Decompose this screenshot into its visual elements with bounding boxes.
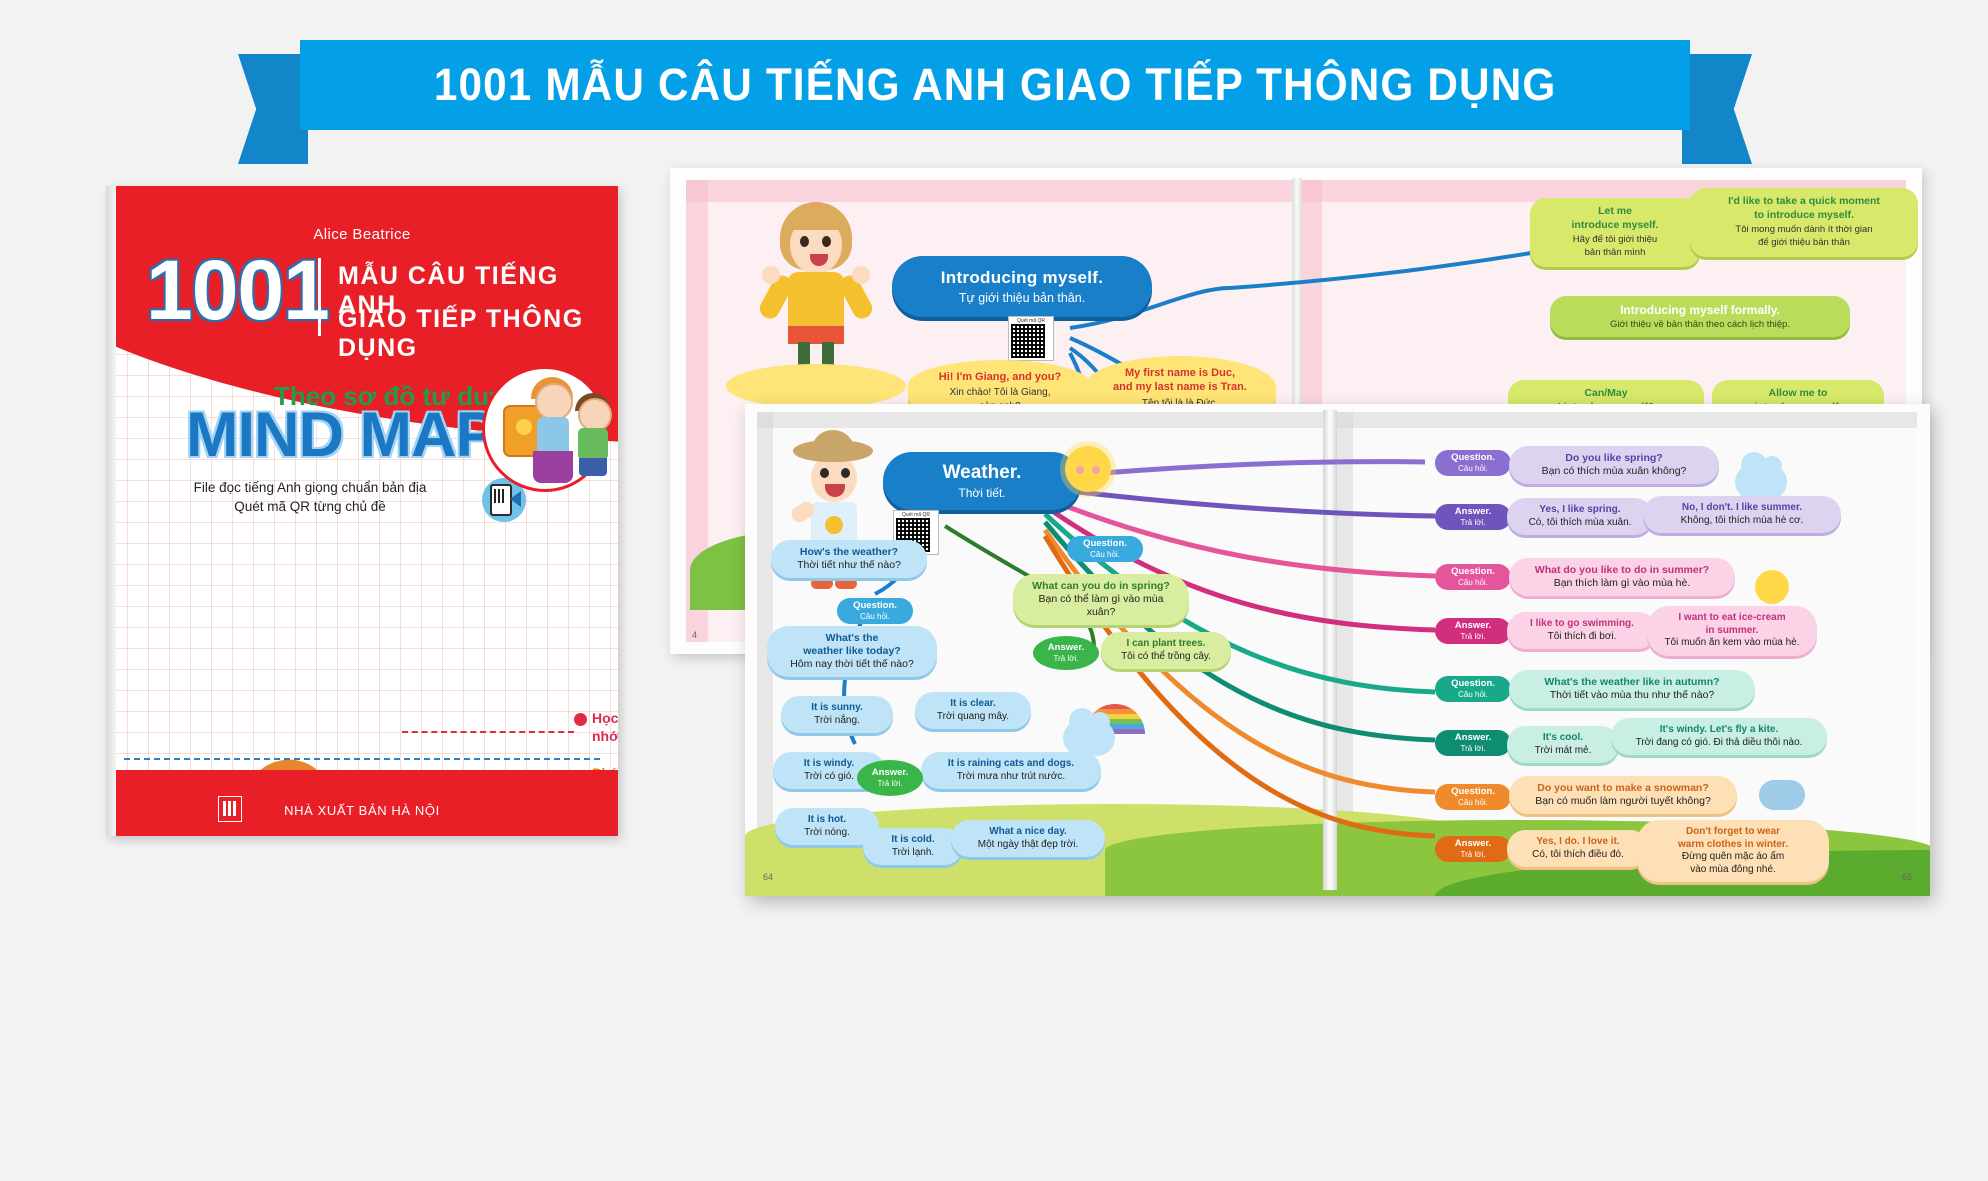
tag-q-winter-vi: Câu hỏi. — [1444, 798, 1502, 807]
weather-winter-a1-en: Yes, I do. I love it. — [1517, 836, 1639, 849]
back-girl-illustration — [762, 202, 872, 372]
weather-summer-a1-vi: Tôi thích đi bơi. — [1517, 631, 1647, 644]
weather-autumn-question[interactable]: What's the weather like in autumn? Thời … — [1509, 670, 1755, 708]
snow-cloud-icon — [1759, 780, 1805, 810]
back-yellow-2-en: My first name is Duc, and my last name i… — [1100, 366, 1260, 395]
weather-summer-a2[interactable]: I want to eat ice-cream in summer. Tôi m… — [1647, 606, 1817, 656]
weather-spring-question[interactable]: Do you like spring? Bạn có thích mùa xuâ… — [1509, 446, 1719, 484]
tag-a-autumn-vi: Trả lời. — [1444, 744, 1502, 753]
tag-question-1-vi: Câu hỏi. — [846, 612, 904, 621]
weather-spring-a1-en: Yes, I like spring. — [1517, 504, 1643, 517]
weather-a7[interactable]: What a nice day. Một ngày thật đẹp trời. — [951, 820, 1105, 857]
weather-center-node[interactable]: Weather. Thời tiết. — [883, 452, 1081, 510]
weather-a2-vi: Trời quang mây. — [925, 711, 1021, 724]
weather-winter-question[interactable]: Do you want to make a snowman? Bạn có mu… — [1509, 776, 1737, 814]
tag-q-summer-en: Question. — [1444, 567, 1502, 578]
back-center-node[interactable]: Introducing myself. Tự giới thiệu bản th… — [892, 256, 1152, 317]
cloud-face-icon-left — [1063, 720, 1115, 756]
weather-a4-vi: Trời mưa như trút nước. — [931, 771, 1091, 784]
weather-a2-en: It is clear. — [925, 698, 1021, 711]
back-girl-torso — [788, 272, 844, 330]
tag-answer-spring2: Answer. Trả lời. — [1435, 504, 1511, 530]
weather-winter-a2[interactable]: Don't forget to wear warm clothes in win… — [1637, 820, 1829, 882]
tag-answer-1-vi: Trả lời. — [863, 779, 917, 788]
tag-q-winter-en: Question. — [1444, 787, 1502, 798]
weather-autumn-a2-vi: Trời đang có gió. Đi thả diều thôi nào. — [1621, 737, 1817, 750]
tag-answer-summer: Answer. Trả lời. — [1435, 618, 1511, 644]
weather-autumn-a2[interactable]: It's windy. Let's fly a kite. Trời đang … — [1611, 718, 1827, 755]
weather-spring-q-vi: Bạn có thể làm gì vào mùa xuân? — [1023, 593, 1179, 619]
weather-autumn-a1[interactable]: It's cool. Trời mát mẻ. — [1507, 726, 1619, 763]
weather-a4-en: It is raining cats and dogs. — [931, 758, 1091, 771]
tag-a-autumn-en: Answer. — [1444, 733, 1502, 744]
cover-subtitle-line1: File đọc tiếng Anh giọng chuẩn bản địa — [160, 480, 460, 495]
weather-autumn-a1-vi: Trời mát mẻ. — [1517, 745, 1609, 758]
cloud-face-icon-1 — [1735, 464, 1787, 500]
weather-spring-a1-vi: Có, tôi thích mùa xuân. — [1517, 517, 1643, 530]
bullet-connector-1 — [402, 731, 574, 733]
tag-answer-spring: Answer. Trả lời. — [1033, 636, 1099, 670]
ribbon-tail-right — [1682, 54, 1752, 164]
weather-a6-vi: Trời lạnh. — [873, 847, 953, 860]
weather-boy-shoe-right — [835, 578, 857, 589]
weather-winter-question-en: Do you want to make a snowman? — [1519, 782, 1727, 795]
bullet-dot-1 — [574, 713, 587, 726]
weather-winter-a1[interactable]: Yes, I do. I love it. Có, tôi thích điều… — [1507, 830, 1649, 867]
back-qr-code[interactable]: Quét mã QR — [1008, 316, 1054, 361]
tag-a-spring2-en: Answer. — [1444, 507, 1502, 518]
weather-a7-en: What a nice day. — [961, 826, 1095, 839]
weather-q2-en: What's the weather like today? — [777, 632, 927, 658]
weather-autumn-question-vi: Thời tiết vào mùa thu như thế nào? — [1519, 689, 1745, 702]
benefit-item-1: Học nhanh, nhớ lâu — [592, 710, 618, 745]
back-qr-label: Quét mã QR — [1011, 319, 1051, 324]
publisher-name: NHÀ XUẤT BẢN HÀ NỘI — [106, 803, 618, 818]
weather-spring-q-en: What can you do in spring? — [1023, 580, 1179, 593]
weather-page-number-right: 65 — [1902, 872, 1912, 882]
header-banner: 1001 MẪU CÂU TIẾNG ANH GIAO TIẾP THÔNG D… — [300, 40, 1690, 130]
weather-spring-a2-en: No, I don't. I like summer. — [1653, 502, 1831, 515]
banner-body: 1001 MẪU CÂU TIẾNG ANH GIAO TIẾP THÔNG D… — [300, 40, 1690, 130]
back-yellow-1-en: Hi! I'm Giang, and you? — [924, 370, 1076, 384]
back-green-2-vi: Tôi mong muốn dành ít thời gian để giới … — [1701, 224, 1907, 250]
speaker-icon — [510, 491, 521, 507]
weather-spread-gutter — [1323, 410, 1337, 890]
tag-q-autumn-vi: Câu hỏi. — [1444, 690, 1502, 699]
weather-a6[interactable]: It is cold. Trời lạnh. — [863, 828, 963, 865]
back-center-en: Introducing myself. — [914, 268, 1130, 288]
weather-q1-vi: Thời tiết như thế nào? — [781, 559, 917, 572]
tag-question-summer: Question. Câu hỏi. — [1435, 564, 1511, 590]
back-girl-hand-left — [762, 266, 780, 284]
tag-q-spring2-en: Question. — [1444, 453, 1502, 464]
tag-answer-1-en: Answer. — [863, 768, 917, 779]
boy-head — [578, 398, 612, 432]
tag-question-1: Question. Câu hỏi. — [837, 598, 913, 624]
tag-a-summer-en: Answer. — [1444, 621, 1502, 632]
weather-q2[interactable]: What's the weather like today? Hôm nay t… — [767, 626, 937, 677]
tag-question-spring2: Question. Câu hỏi. — [1435, 450, 1511, 476]
cover-footer-bar: NHÀ XUẤT BẢN HÀ NỘI — [106, 770, 618, 836]
tag-answer-winter: Answer. Trả lời. — [1435, 836, 1511, 862]
phone-icon — [490, 484, 512, 516]
hat-brim-icon — [793, 440, 873, 462]
tag-a-summer-vi: Trả lời. — [1444, 632, 1502, 641]
weather-a5-en: It is hot. — [785, 814, 869, 827]
back-green-node-2[interactable]: I'd like to take a quick moment to intro… — [1690, 188, 1918, 257]
weather-winter-a2-vi: Đừng quên mặc áo ấm vào mùa đông nhé. — [1647, 851, 1819, 876]
cover-boy-illustration — [564, 396, 618, 476]
tag-a-spring2-vi: Trả lời. — [1444, 518, 1502, 527]
weather-q2-vi: Hôm nay thời tiết thế nào? — [777, 658, 927, 671]
weather-q1-en: How's the weather? — [781, 546, 917, 559]
weather-a2[interactable]: It is clear. Trời quang mây. — [915, 692, 1031, 729]
tag-q-summer-vi: Câu hỏi. — [1444, 578, 1502, 587]
sun-icon — [1065, 446, 1111, 492]
weather-spring-question-vi: Bạn có thích mùa xuân không? — [1519, 465, 1709, 478]
back-girl-skirt — [788, 326, 844, 344]
tag-question-spring-en: Question. — [1076, 539, 1134, 550]
weather-spring-a-vi: Tôi có thể trồng cây. — [1111, 651, 1221, 664]
back-green-long-en: Introducing myself formally. — [1564, 303, 1836, 317]
tag-a-winter-en: Answer. — [1444, 839, 1502, 850]
tag-question-spring-vi: Câu hỏi. — [1076, 550, 1134, 559]
cover-spine — [106, 186, 116, 836]
weather-spring-q[interactable]: What can you do in spring? Bạn có thể là… — [1013, 574, 1189, 625]
boy-pants — [579, 458, 607, 476]
back-green-node-1[interactable]: Let me introduce myself. Hãy để tôi giới… — [1530, 198, 1700, 267]
weather-autumn-question-en: What's the weather like in autumn? — [1519, 676, 1745, 689]
book-cover: Alice Beatrice 1001 MẪU CÂU TIẾNG ANH GI… — [106, 186, 618, 836]
cover-title-divider — [318, 258, 321, 336]
back-green-long-node[interactable]: Introducing myself formally. Giới thiệu … — [1550, 296, 1850, 337]
book-spread-weather: Weather. Thời tiết. Quét mã QR How's the… — [745, 404, 1930, 896]
tag-question-1-en: Question. — [846, 601, 904, 612]
weather-summer-a2-en: I want to eat ice-cream in summer. — [1657, 612, 1807, 637]
weather-a6-en: It is cold. — [873, 834, 953, 847]
cover-subtitle-line2: Quét mã QR từng chủ đề — [160, 499, 460, 514]
tag-answer-spring-vi: Trả lời. — [1039, 654, 1093, 663]
weather-boy-eye-right — [841, 468, 850, 478]
weather-summer-question[interactable]: What do you like to do in summer? Bạn th… — [1509, 558, 1735, 596]
weather-spring-a2-vi: Không, tôi thích mùa hè cơ. — [1653, 515, 1831, 528]
weather-summer-a1[interactable]: I like to go swimming. Tôi thích đi bơi. — [1507, 612, 1657, 649]
weather-spring-question-en: Do you like spring? — [1519, 452, 1709, 465]
weather-spring-a-en: I can plant trees. — [1111, 638, 1221, 651]
tag-q-spring2-vi: Câu hỏi. — [1444, 464, 1502, 473]
back-girl-hand-right — [852, 266, 870, 284]
weather-winter-a1-vi: Có, tôi thích điều đó. — [1517, 849, 1639, 862]
tag-q-autumn-en: Question. — [1444, 679, 1502, 690]
weather-center-vi: Thời tiết. — [897, 486, 1067, 500]
weather-a7-vi: Một ngày thật đẹp trời. — [961, 839, 1095, 852]
weather-spring-a2[interactable]: No, I don't. I like summer. Không, tôi t… — [1643, 496, 1841, 533]
sun-icon-summer — [1755, 570, 1789, 604]
tag-answer-1: Answer. Trả lời. — [857, 760, 923, 796]
back-green-long-vi: Giới thiệu về bản thân theo cách lịch th… — [1564, 319, 1836, 330]
cover-title-line2: GIAO TIẾP THÔNG DỤNG — [338, 305, 618, 363]
weather-summer-question-en: What do you like to do in summer? — [1519, 564, 1725, 577]
weather-page-number-left: 64 — [763, 872, 773, 882]
weather-summer-a2-vi: Tôi muốn ăn kem vào mùa hè. — [1657, 637, 1807, 650]
weather-autumn-a1-en: It's cool. — [1517, 732, 1609, 745]
back-green-1-en: Let me introduce myself. — [1541, 205, 1689, 232]
weather-winter-a2-en: Don't forget to wear warm clothes in win… — [1647, 826, 1819, 851]
boy-shirt — [578, 428, 608, 460]
cover-divider — [124, 758, 600, 760]
tag-question-spring: Question. Câu hỏi. — [1067, 536, 1143, 562]
back-green-1-vi: Hãy để tôi giới thiệu bản thân mình — [1541, 234, 1689, 260]
tag-answer-spring-en: Answer. — [1039, 643, 1093, 654]
weather-a1-en: It is sunny. — [791, 702, 883, 715]
weather-autumn-a2-en: It's windy. Let's fly a kite. — [1621, 724, 1817, 737]
back-center-vi: Tự giới thiệu bản thân. — [914, 291, 1130, 305]
weather-center-en: Weather. — [897, 462, 1067, 484]
weather-boy-eye-left — [820, 468, 829, 478]
back-qr-image — [1011, 324, 1045, 358]
tag-question-winter: Question. Câu hỏi. — [1435, 784, 1511, 810]
tag-answer-autumn: Answer. Trả lời. — [1435, 730, 1511, 756]
weather-a4[interactable]: It is raining cats and dogs. Trời mưa nh… — [921, 752, 1101, 789]
weather-q1[interactable]: How's the weather? Thời tiết như thế nào… — [771, 540, 927, 578]
weather-spring-a1[interactable]: Yes, I like spring. Có, tôi thích mùa xu… — [1507, 498, 1653, 535]
back-yellow-blob — [726, 364, 906, 408]
tag-question-autumn: Question. Câu hỏi. — [1435, 676, 1511, 702]
weather-qr-label: Quét mã QR — [896, 513, 936, 518]
back-page-number: 4 — [692, 630, 697, 640]
weather-a1-vi: Trời nắng. — [791, 715, 883, 728]
banner-title: 1001 MẪU CÂU TIẾNG ANH GIAO TIẾP THÔNG D… — [434, 59, 1557, 111]
weather-spring-a[interactable]: I can plant trees. Tôi có thể trồng cây. — [1101, 632, 1231, 669]
weather-summer-question-vi: Bạn thích làm gì vào mùa hè. — [1519, 577, 1725, 590]
weather-winter-question-vi: Bạn có muốn làm người tuyết không? — [1519, 795, 1727, 808]
weather-boy-shoe-left — [811, 578, 833, 589]
weather-a5-vi: Trời nóng. — [785, 827, 869, 840]
weather-boy-badge — [825, 516, 843, 534]
weather-a1[interactable]: It is sunny. Trời nắng. — [781, 696, 893, 733]
back-girl-eye-left — [800, 236, 809, 247]
back-girl-eye-right — [822, 236, 831, 247]
back-green-2-en: I'd like to take a quick moment to intro… — [1701, 195, 1907, 222]
back-girl-bangs — [786, 208, 846, 230]
cover-mindmap-logo: MIND MAP — [186, 404, 496, 467]
cover-number: 1001 — [146, 248, 329, 332]
ribbon-tail-left — [238, 54, 308, 164]
weather-summer-a1-en: I like to go swimming. — [1517, 618, 1647, 631]
tag-a-winter-vi: Trả lời. — [1444, 850, 1502, 859]
cover-author: Alice Beatrice — [106, 226, 618, 243]
